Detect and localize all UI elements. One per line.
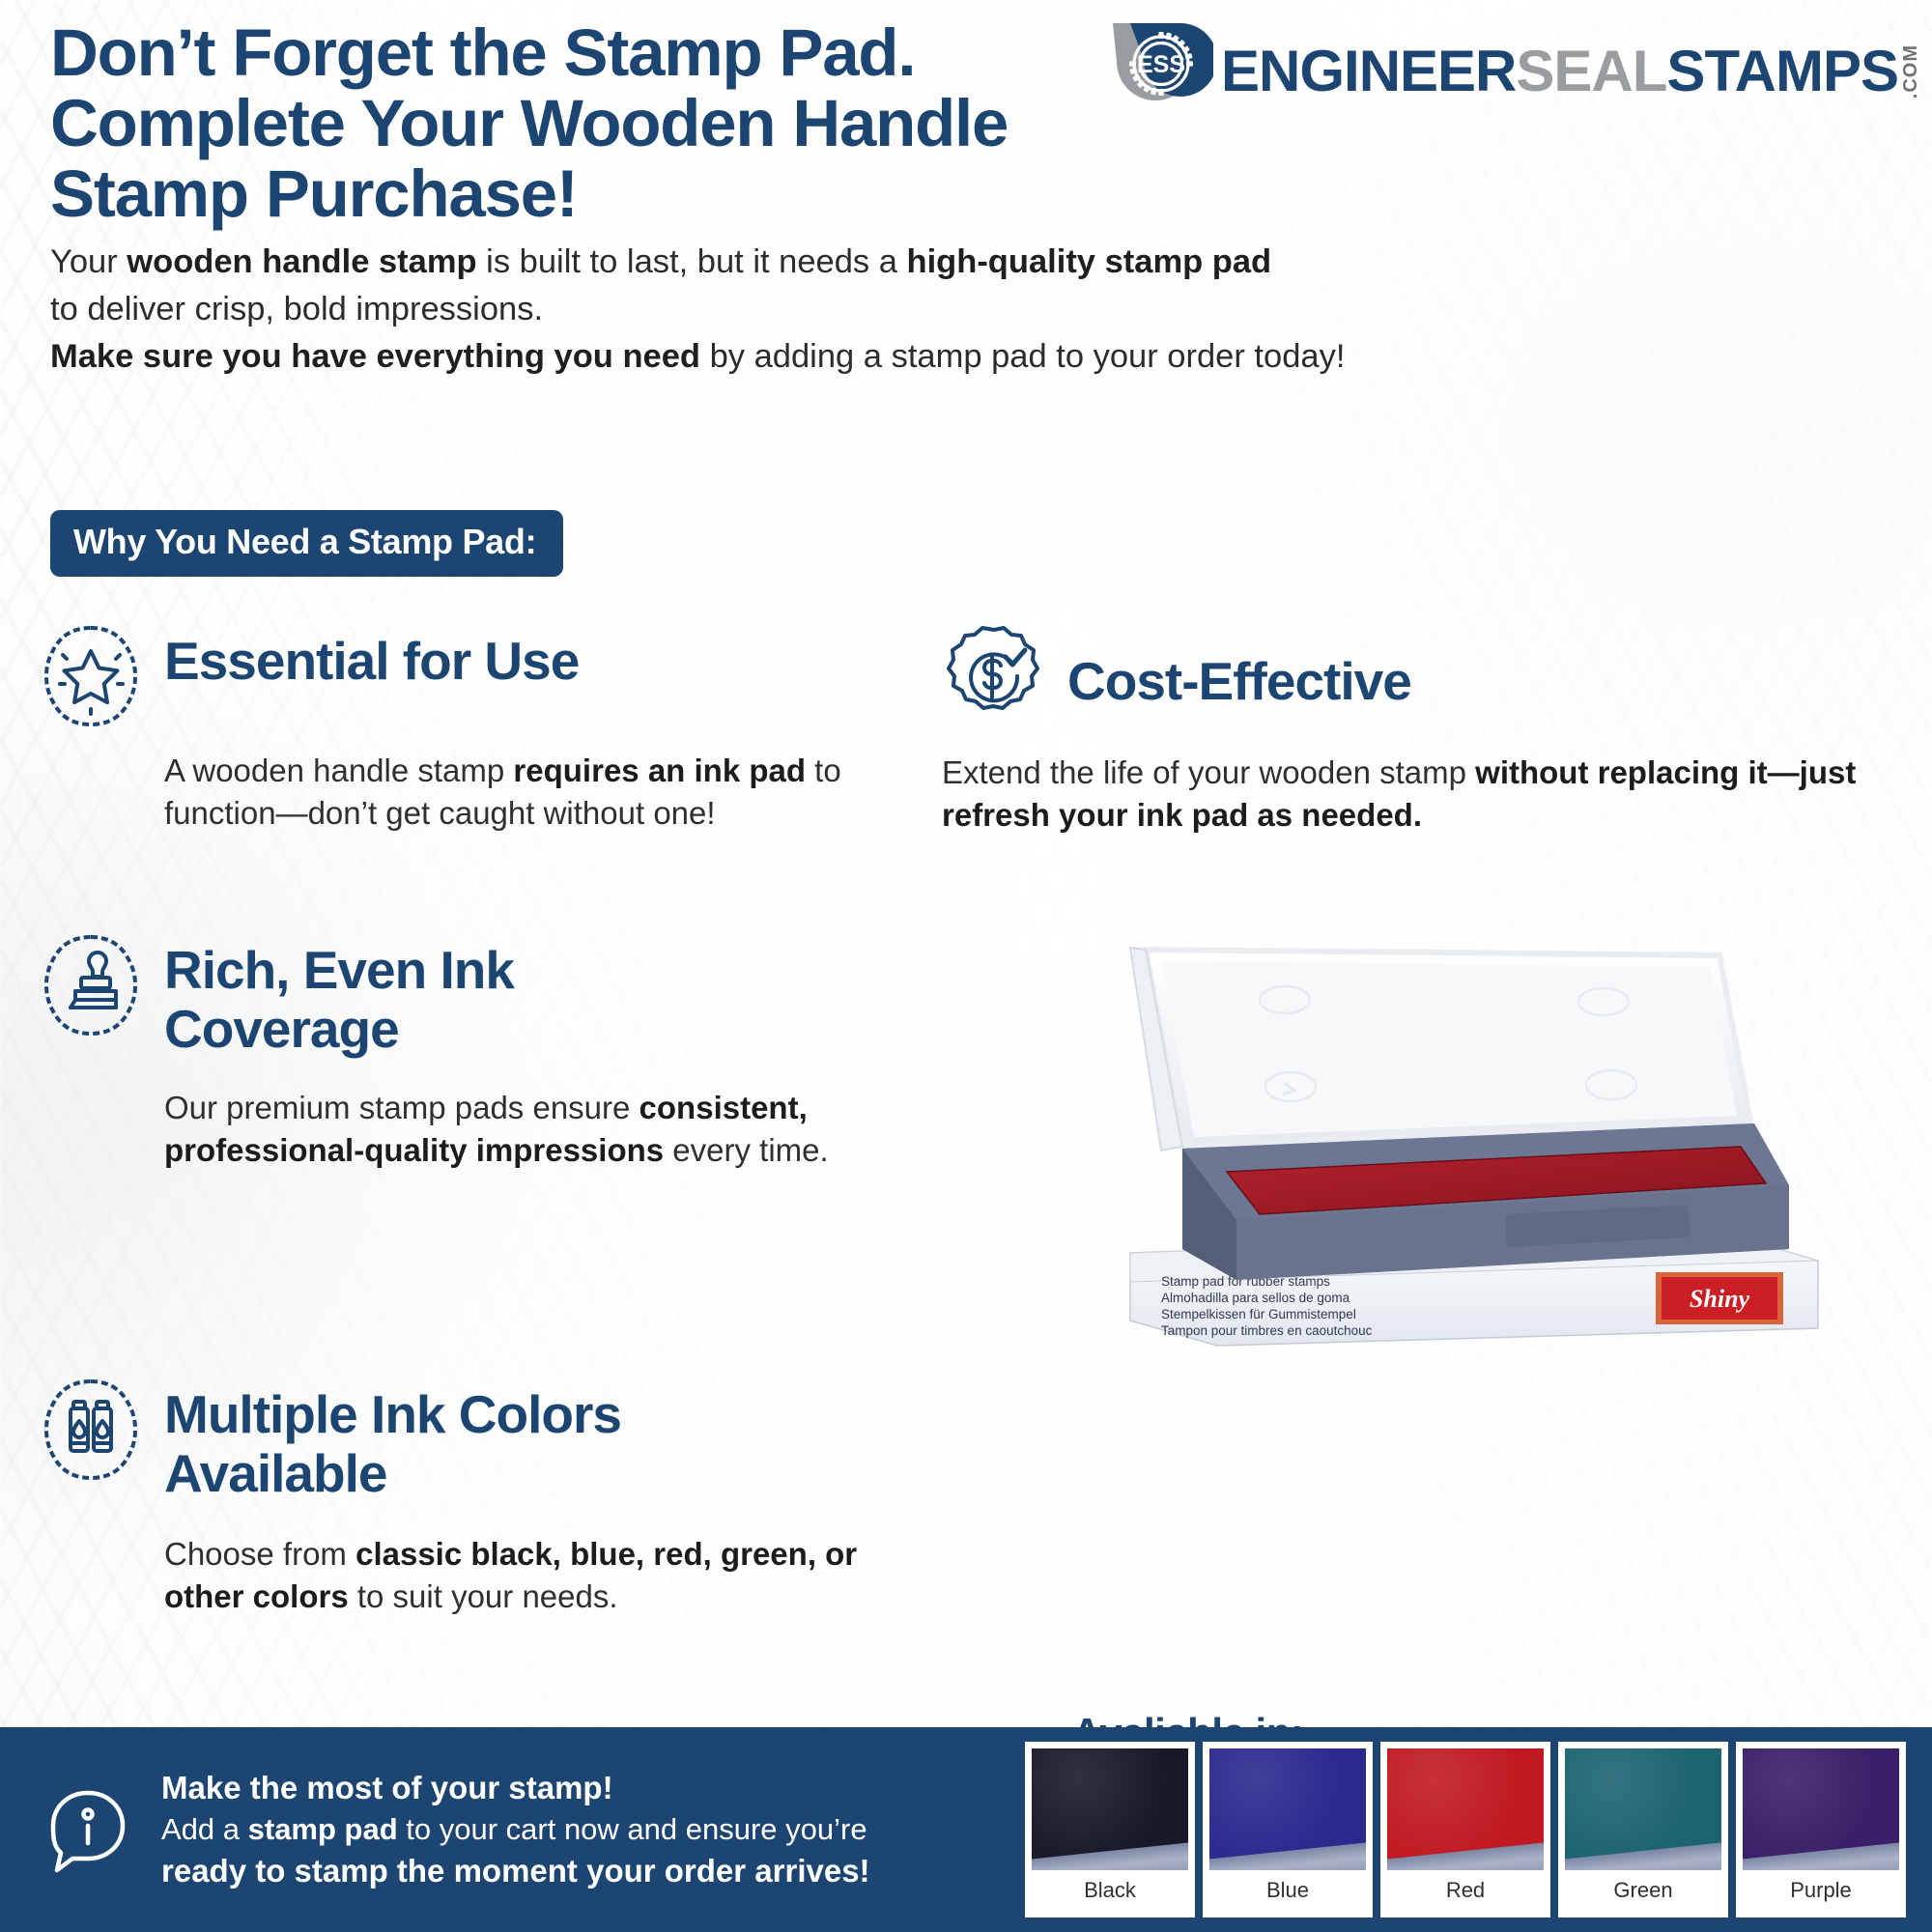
info-bubble-icon	[43, 1785, 132, 1874]
ink-color-swatch-list: Black Blue Red Green	[1028, 1745, 1903, 1915]
intro-l1-d: high-quality stamp pad	[907, 243, 1272, 280]
feature-body: A wooden handle stamp requires an ink pa…	[164, 750, 879, 835]
feature-title: Multiple Ink Colors Available	[164, 1372, 763, 1502]
rubber-stamp-badge-icon	[39, 931, 143, 1039]
product-photo-stamp-pad: Stamp pad for rubber stamps Almohadilla …	[1101, 942, 1835, 1348]
feature-body-a: Choose from	[164, 1536, 355, 1572]
logo-wordmark: ENGINEER SEAL STAMPS .COM	[1221, 43, 1920, 100]
feature-body-c: to suit your needs.	[349, 1578, 618, 1614]
feature-body: Extend the life of your wooden stamp wit…	[942, 752, 1898, 837]
shiny-brand-text: Shiny	[1690, 1285, 1750, 1313]
title-line-3: Stamp Purchase!	[50, 158, 1219, 229]
intro-paragraph: Your wooden handle stamp is built to las…	[50, 239, 1441, 381]
feature-essential-for-use: Essential for Use A wooden handle stamp …	[39, 618, 889, 835]
title-line-2: Complete Your Wooden Handle	[50, 88, 1219, 158]
swatch-blue[interactable]: Blue	[1206, 1745, 1370, 1915]
ess-monogram-text: ESS	[1137, 51, 1185, 78]
logo-word-engineer: ENGINEER	[1221, 43, 1516, 100]
swatch-red[interactable]: Red	[1383, 1745, 1548, 1915]
feature-multiple-ink-colors: Multiple Ink Colors Available Choose fro…	[39, 1372, 908, 1618]
logo-word-stamps: STAMPS	[1666, 43, 1898, 100]
swatch-photo	[1387, 1748, 1544, 1870]
swatch-label: Purple	[1743, 1870, 1899, 1911]
footer-line-1: Make the most of your stamp!	[161, 1767, 1060, 1809]
logo-word-dotcom: .COM	[1901, 44, 1920, 99]
footer-cta-text: Make the most of your stamp! Add a stamp…	[161, 1767, 1060, 1892]
swatch-label: Black	[1032, 1870, 1188, 1911]
intro-l3-a: Make sure you have everything you need	[50, 338, 700, 375]
footer-line-3: ready to stamp the moment your order arr…	[161, 1850, 1060, 1892]
box-line-2: Almohadilla para sellos de goma	[1161, 1291, 1350, 1305]
intro-l1-b: wooden handle stamp	[127, 243, 476, 280]
shiny-brand-logo: Shiny	[1656, 1272, 1783, 1324]
feature-cost-effective: Cost-Effective Extend the life of your w…	[942, 618, 1908, 837]
ink-bottles-badge-icon	[39, 1376, 143, 1484]
feature-title: Cost-Effective	[1067, 639, 1411, 711]
swatch-label: Green	[1565, 1870, 1721, 1911]
box-line-3: Stempelkissen für Gummistempel	[1161, 1307, 1356, 1321]
intro-l3-b: by adding a stamp pad to your order toda…	[700, 338, 1345, 375]
brand-logo[interactable]: ESS ENGINEER SEAL STAMPS .COM	[1097, 17, 1920, 126]
page-title: Don’t Forget the Stamp Pad. Complete You…	[50, 17, 1219, 229]
feature-title: Essential for Use	[164, 618, 579, 691]
title-line-1: Don’t Forget the Stamp Pad.	[50, 17, 1219, 88]
intro-l2: to deliver crisp, bold impressions.	[50, 291, 543, 327]
logo-word-seal: SEAL	[1516, 43, 1666, 100]
swatch-photo	[1209, 1748, 1366, 1870]
intro-l1-a: Your	[50, 243, 127, 280]
swatch-black[interactable]: Black	[1028, 1745, 1192, 1915]
ess-logo-icon: ESS	[1097, 17, 1213, 126]
feature-body: Our premium stamp pads ensure consistent…	[164, 1087, 840, 1172]
intro-l1-c: is built to last, but it needs a	[477, 243, 907, 280]
feature-body-a: A wooden handle stamp	[164, 753, 513, 788]
footer-line-2-c: to your cart now and ensure you’re	[398, 1812, 867, 1846]
infographic-page: Don’t Forget the Stamp Pad. Complete You…	[0, 0, 1932, 1932]
swatch-label: Red	[1387, 1870, 1544, 1911]
feature-title: Rich, Even Ink Coverage	[164, 927, 705, 1058]
box-line-4: Tampon pour timbres en caoutchouc	[1161, 1323, 1373, 1338]
section-heading-badge: Why You Need a Stamp Pad:	[50, 510, 563, 577]
footer-line-2-b: stamp pad	[248, 1812, 398, 1846]
swatch-label: Blue	[1209, 1870, 1366, 1911]
footer-line-2: Add a stamp pad to your cart now and ens…	[161, 1809, 1060, 1850]
feature-body-c: every time.	[664, 1132, 829, 1168]
swatch-photo	[1743, 1748, 1899, 1870]
feature-body-b: requires an ink pad	[513, 753, 806, 788]
star-badge-icon	[39, 622, 143, 730]
swatch-photo	[1565, 1748, 1721, 1870]
swatch-purple[interactable]: Purple	[1739, 1745, 1903, 1915]
feature-body-a: Our premium stamp pads ensure	[164, 1090, 639, 1125]
stamp-pad-lid	[1130, 948, 1750, 1151]
feature-rich-even-ink-coverage: Rich, Even Ink Coverage Our premium stam…	[39, 927, 889, 1172]
dollar-check-badge-icon	[942, 622, 1046, 730]
swatch-photo	[1032, 1748, 1188, 1870]
footer-line-2-a: Add a	[161, 1812, 248, 1846]
feature-body-a: Extend the life of your wooden stamp	[942, 754, 1475, 790]
feature-body: Choose from classic black, blue, red, gr…	[164, 1533, 879, 1618]
swatch-green[interactable]: Green	[1561, 1745, 1725, 1915]
